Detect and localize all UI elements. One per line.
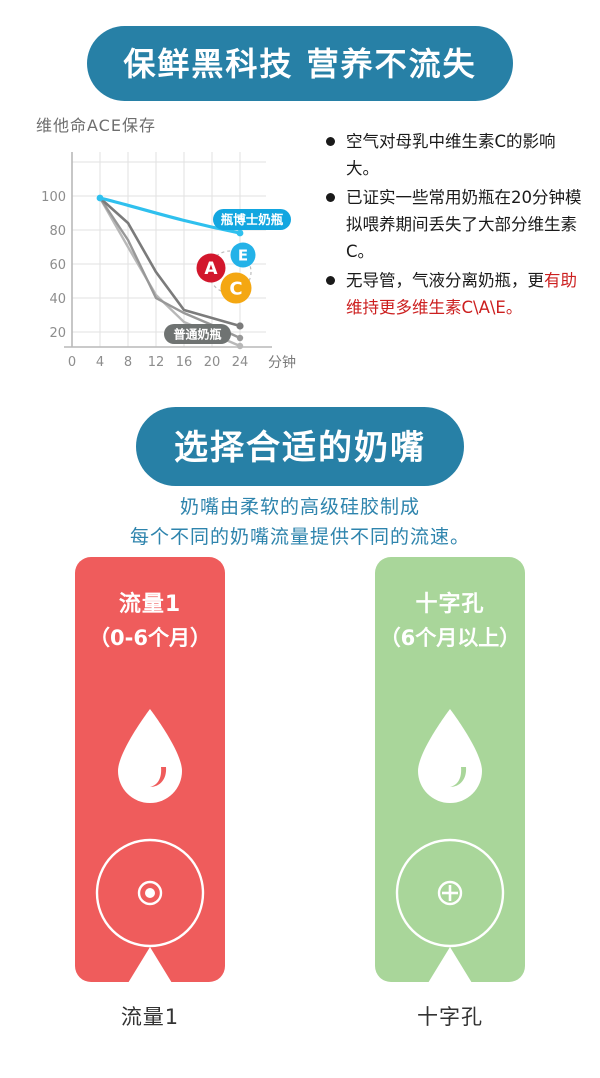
vitamin-marker-e: E	[231, 243, 256, 268]
water-drop-icon-holder	[75, 705, 225, 809]
water-drop-icon	[110, 705, 190, 809]
vitamin-marker-c: C	[221, 273, 252, 304]
chart-plot-area: 100 80 60 40 20 0 4 8 12 16 20 24 分钟	[24, 144, 314, 384]
nipple-cards-row: 流量1 （0-6个月） 流量1 十	[0, 557, 600, 1031]
y-tick-100: 100	[41, 190, 66, 205]
list-item: 无导管，气液分离奶瓶，更有助维持更多维生素C\A\E。	[326, 267, 588, 321]
bullet-dot-icon	[326, 276, 335, 285]
chart-y-ticklabels: 100 80 60 40 20	[41, 190, 66, 341]
bullet-dot-icon	[326, 137, 335, 146]
y-tick-80: 80	[49, 224, 66, 239]
bullet-dot-icon	[326, 193, 335, 202]
middle-banner-title: 选择合适的奶嘴	[136, 407, 464, 486]
chart-title: 维他命ACE保存	[36, 112, 314, 136]
nipple-subtitle-line2: 每个不同的奶嘴流量提供不同的流速。	[0, 522, 600, 552]
y-tick-60: 60	[49, 258, 66, 273]
middle-banner-container: 选择合适的奶嘴	[0, 407, 600, 486]
nipple-card-cross-caption: 十字孔	[417, 1001, 483, 1031]
list-item: 空气对母乳中维生素C的影响大。	[326, 128, 588, 182]
x-tick-8: 8	[124, 355, 132, 370]
chart-svg: 100 80 60 40 20 0 4 8 12 16 20 24 分钟	[24, 144, 314, 384]
water-drop-icon-holder	[375, 705, 525, 809]
single-hole-icon-holder	[75, 837, 225, 949]
series-dr-bottle-start-point	[97, 195, 104, 202]
series-ordinary-c-endpoint	[237, 343, 243, 349]
x-tick-20: 20	[204, 355, 221, 370]
nipple-card-cross-title: 十字孔	[375, 589, 525, 621]
top-banner-container: 保鲜黑科技 营养不流失	[0, 26, 600, 101]
vitamin-marker-a-label: A	[204, 259, 218, 279]
legend-badge-ordinary: 普通奶瓶	[164, 324, 231, 344]
vitamin-retention-chart: 维他命ACE保存 100	[24, 112, 314, 384]
y-tick-20: 20	[49, 326, 66, 341]
x-tick-0: 0	[68, 355, 76, 370]
nipple-card-cross-subtitle: （6个月以上）	[375, 621, 525, 655]
nipple-card-cross-titles: 十字孔 （6个月以上）	[375, 589, 525, 655]
y-tick-40: 40	[49, 292, 66, 307]
feature-bullet-list: 空气对母乳中维生素C的影响大。 已证实一些常用奶瓶在20分钟模拟喂养期间丢失了大…	[326, 128, 588, 323]
x-tick-4: 4	[96, 355, 104, 370]
nipple-subtitle-line1: 奶嘴由柔软的高级硅胶制成	[0, 492, 600, 522]
nipple-card-cross-body: 十字孔 （6个月以上）	[375, 557, 525, 982]
legend-badge-dr-bottle: 瓶博士奶瓶	[213, 209, 291, 230]
series-ordinary-a-endpoint	[236, 322, 243, 329]
chart-x-ticklabels: 0 4 8 12 16 20 24	[68, 355, 248, 370]
bullet-text-3: 无导管，气液分离奶瓶，更有助维持更多维生素C\A\E。	[346, 267, 588, 321]
chart-x-axis-label: 分钟	[268, 354, 296, 371]
nipple-card-flow1-title: 流量1	[75, 589, 225, 621]
legend-badge-dr-bottle-label: 瓶博士奶瓶	[221, 212, 284, 227]
nipple-subtitle: 奶嘴由柔软的高级硅胶制成 每个不同的奶嘴流量提供不同的流速。	[0, 492, 600, 552]
water-drop-icon	[410, 705, 490, 809]
nipple-card-flow1-caption: 流量1	[121, 1001, 179, 1031]
bullet-text-1: 空气对母乳中维生素C的影响大。	[346, 128, 588, 182]
x-tick-12: 12	[148, 355, 165, 370]
legend-badge-ordinary-label: 普通奶瓶	[173, 327, 221, 342]
vitamin-marker-c-label: C	[229, 279, 242, 300]
nipple-card-flow1-titles: 流量1 （0-6个月）	[75, 589, 225, 655]
list-item: 已证实一些常用奶瓶在20分钟模拟喂养期间丢失了大部分维生素C。	[326, 184, 588, 265]
card-bottom-notch	[428, 947, 472, 982]
x-tick-24: 24	[232, 355, 249, 370]
cross-hole-icon-holder	[375, 837, 525, 949]
nipple-card-flow1-subtitle: （0-6个月）	[75, 621, 225, 655]
series-ordinary-b-endpoint	[237, 335, 243, 341]
cross-hole-icon	[394, 837, 506, 949]
card-bottom-notch	[128, 947, 172, 982]
nipple-card-cross[interactable]: 十字孔 （6个月以上） 十字孔	[375, 557, 525, 1031]
vitamin-marker-e-label: E	[238, 247, 248, 265]
nipple-card-flow1-body: 流量1 （0-6个月）	[75, 557, 225, 982]
x-tick-16: 16	[176, 355, 193, 370]
nipple-card-flow1[interactable]: 流量1 （0-6个月） 流量1	[75, 557, 225, 1031]
bullet-text-2: 已证实一些常用奶瓶在20分钟模拟喂养期间丢失了大部分维生素C。	[346, 184, 588, 265]
series-dr-bottle-endpoint	[237, 230, 244, 237]
vitamin-marker-a: A	[197, 254, 226, 283]
single-hole-icon	[94, 837, 206, 949]
top-banner-title: 保鲜黑科技 营养不流失	[87, 26, 512, 101]
